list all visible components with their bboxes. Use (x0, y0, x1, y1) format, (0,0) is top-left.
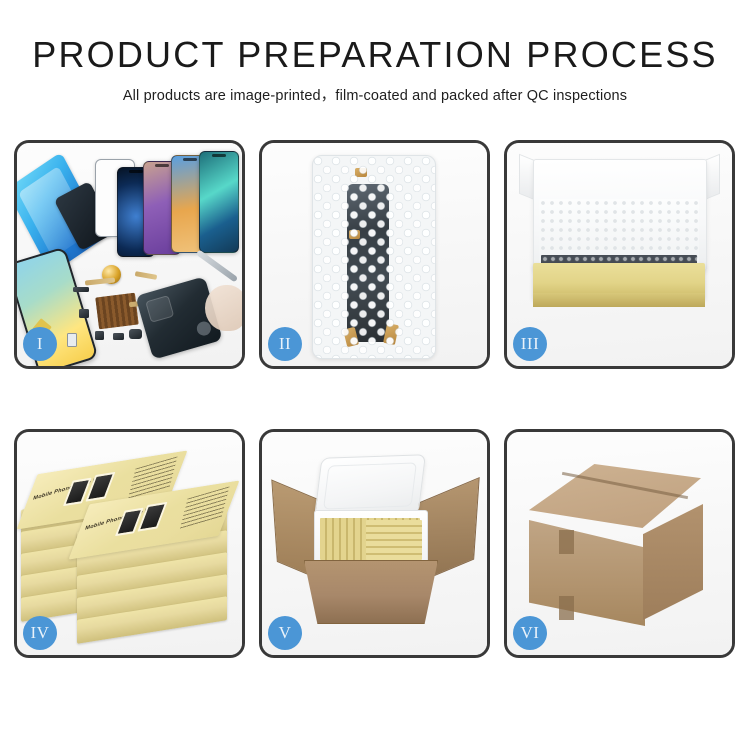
box-window-icon (63, 478, 92, 507)
bubble-wrap-bag-icon (312, 155, 436, 359)
step-badge-3: III (513, 327, 547, 361)
step-panel-3[interactable]: III (504, 140, 735, 369)
box-window-icon (137, 502, 167, 532)
carton-body-icon (304, 560, 438, 624)
page-title: PRODUCT PREPARATION PROCESS (0, 36, 750, 74)
notch-icon (212, 154, 226, 157)
step-badge-4: IV (23, 616, 57, 650)
notch-icon (183, 158, 197, 161)
box-stack-group: Mobile Phone Spare Parts Mobile Phone Sp… (21, 446, 241, 646)
step-panel-5[interactable]: V (259, 429, 490, 658)
foam-lid-open-icon (314, 454, 426, 518)
carton-tape-icon (559, 596, 574, 620)
step-badge-6: VI (513, 616, 547, 650)
box-window-icon (115, 508, 144, 537)
chip-icon (73, 287, 89, 292)
step-panel-1[interactable]: I (14, 140, 245, 369)
step-badge-5: V (268, 616, 302, 650)
carton-tape-icon (559, 530, 574, 554)
chip-icon (129, 329, 142, 339)
yellow-boxes-stack-icon (366, 520, 422, 560)
step-badge-1: I (23, 327, 57, 361)
process-steps-grid: I II III (14, 140, 736, 658)
page-header: PRODUCT PREPARATION PROCESS All products… (0, 0, 750, 105)
step-panel-6[interactable]: VI (504, 429, 735, 658)
flex-cable-icon (135, 271, 158, 280)
notch-icon (155, 164, 169, 167)
step-panel-4[interactable]: Mobile Phone Spare Parts Mobile Phone Sp… (14, 429, 245, 658)
bubble-texture (313, 156, 435, 358)
small-screen-icon (67, 333, 77, 347)
carton-front-face-icon (529, 520, 645, 626)
step-badge-2: II (268, 327, 302, 361)
box-spec-lines (180, 486, 230, 529)
hand-icon (205, 285, 245, 331)
phone-fan-group (115, 151, 245, 261)
carton-side-face-icon (643, 504, 703, 620)
chip-icon (113, 333, 124, 340)
flex-cable-icon (85, 277, 115, 285)
phone-teal-icon (199, 151, 239, 253)
chip-icon (79, 309, 89, 318)
chip-icon (95, 331, 104, 340)
page-subtitle: All products are image-printed，film-coat… (0, 84, 750, 105)
step-panel-2[interactable]: II (259, 140, 490, 369)
yellow-box-front-icon (533, 293, 705, 307)
circuit-board-icon (95, 293, 139, 330)
box-window-icon (85, 472, 115, 502)
notch-icon (129, 170, 143, 173)
